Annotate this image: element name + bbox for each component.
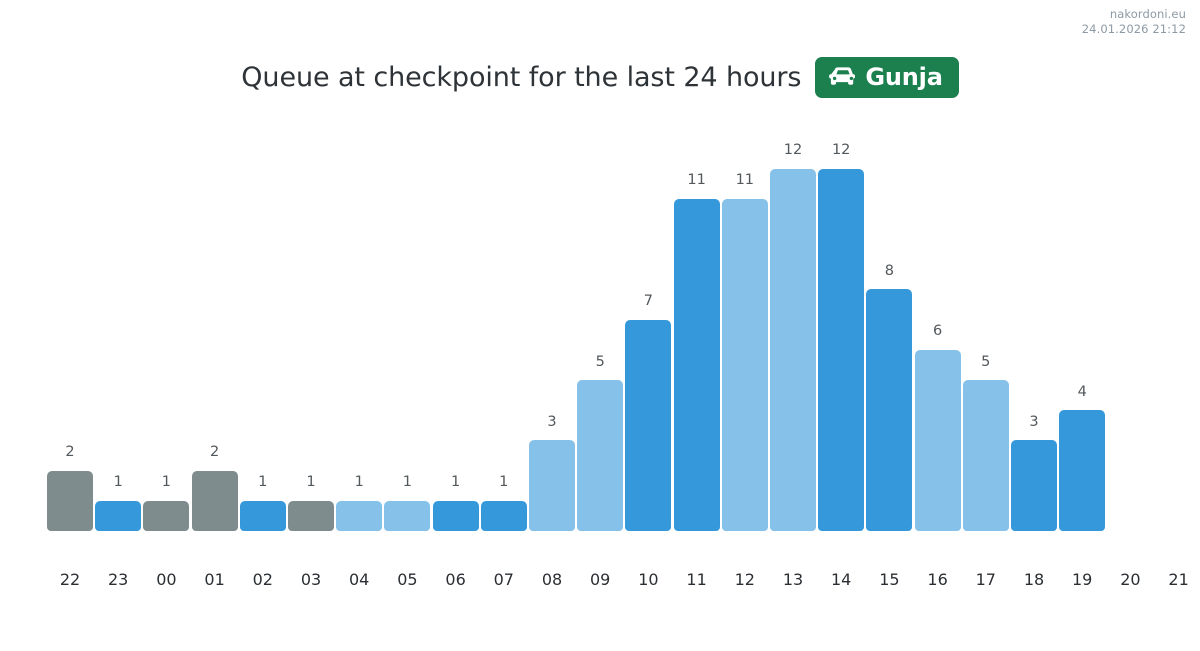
x-axis-tick-label: 16 [915,572,961,588]
bar[interactable] [240,501,286,531]
x-axis-tick-label: 10 [625,572,671,588]
bar-value-label: 1 [336,475,382,490]
bar[interactable] [433,501,479,531]
bar-value-label: 11 [722,173,768,188]
bar[interactable] [1059,410,1105,531]
bar[interactable] [481,501,527,531]
bar-value-label: 4 [1059,385,1105,400]
bar-value-label: 5 [577,355,623,370]
bar[interactable] [1011,440,1057,531]
x-axis-tick-label: 18 [1011,572,1057,588]
bar[interactable] [625,320,671,531]
bar-value-label: 5 [963,355,1009,370]
x-axis-tick-label: 11 [674,572,720,588]
x-axis-tick-label: 21 [1156,572,1200,588]
bar[interactable] [963,380,1009,531]
bar-value-label: 1 [288,475,334,490]
bar[interactable] [577,380,623,531]
x-axis-tick-label: 14 [818,572,864,588]
bar-value-label: 1 [481,475,527,490]
bar-value-label: 2 [192,445,238,460]
bar-value-label: 8 [866,264,912,279]
bar[interactable] [336,501,382,531]
bar-value-label: 3 [529,415,575,430]
x-axis-tick-label: 01 [192,572,238,588]
bar[interactable] [47,471,93,531]
x-axis-tick-label: 07 [481,572,527,588]
bar[interactable] [288,501,334,531]
x-axis-tick-label: 09 [577,572,623,588]
bar-value-label: 2 [47,445,93,460]
x-axis-tick-label: 20 [1107,572,1153,588]
x-axis-tick-label: 13 [770,572,816,588]
x-axis-tick-label: 17 [963,572,1009,588]
x-axis-tick-label: 06 [433,572,479,588]
x-axis-tick-label: 12 [722,572,768,588]
bar-value-label: 12 [770,143,816,158]
bar[interactable] [674,199,720,531]
bar-value-label: 1 [240,475,286,490]
x-axis-tick-label: 00 [143,572,189,588]
bar[interactable] [143,501,189,531]
bar-value-label: 12 [818,143,864,158]
bar[interactable] [915,350,961,531]
bar[interactable] [866,289,912,531]
bar[interactable] [722,199,768,531]
x-axis-tick-label: 22 [47,572,93,588]
bar-value-label: 6 [915,324,961,339]
x-axis-tick-label: 03 [288,572,334,588]
bar[interactable] [818,169,864,531]
x-axis-tick-label: 15 [866,572,912,588]
x-axis-tick-label: 02 [240,572,286,588]
bar[interactable] [770,169,816,531]
x-axis-tick-label: 19 [1059,572,1105,588]
bar[interactable] [384,501,430,531]
bar[interactable] [192,471,238,531]
x-axis-tick-label: 05 [384,572,430,588]
x-axis-tick-label: 23 [95,572,141,588]
bar[interactable] [529,440,575,531]
bar-value-label: 1 [95,475,141,490]
bar[interactable] [95,501,141,531]
bar-value-label: 7 [625,294,671,309]
bar-value-label: 1 [143,475,189,490]
chart-page: nakordoni.eu 24.01.2026 21:12 Queue at c… [0,0,1200,651]
bar-chart-plot: 2221231002011021031041051061073085097101… [0,0,1200,651]
bar-value-label: 3 [1011,415,1057,430]
bar-value-label: 1 [384,475,430,490]
x-axis-tick-label: 08 [529,572,575,588]
x-axis-tick-label: 04 [336,572,382,588]
bar-value-label: 11 [674,173,720,188]
bar-value-label: 1 [433,475,479,490]
